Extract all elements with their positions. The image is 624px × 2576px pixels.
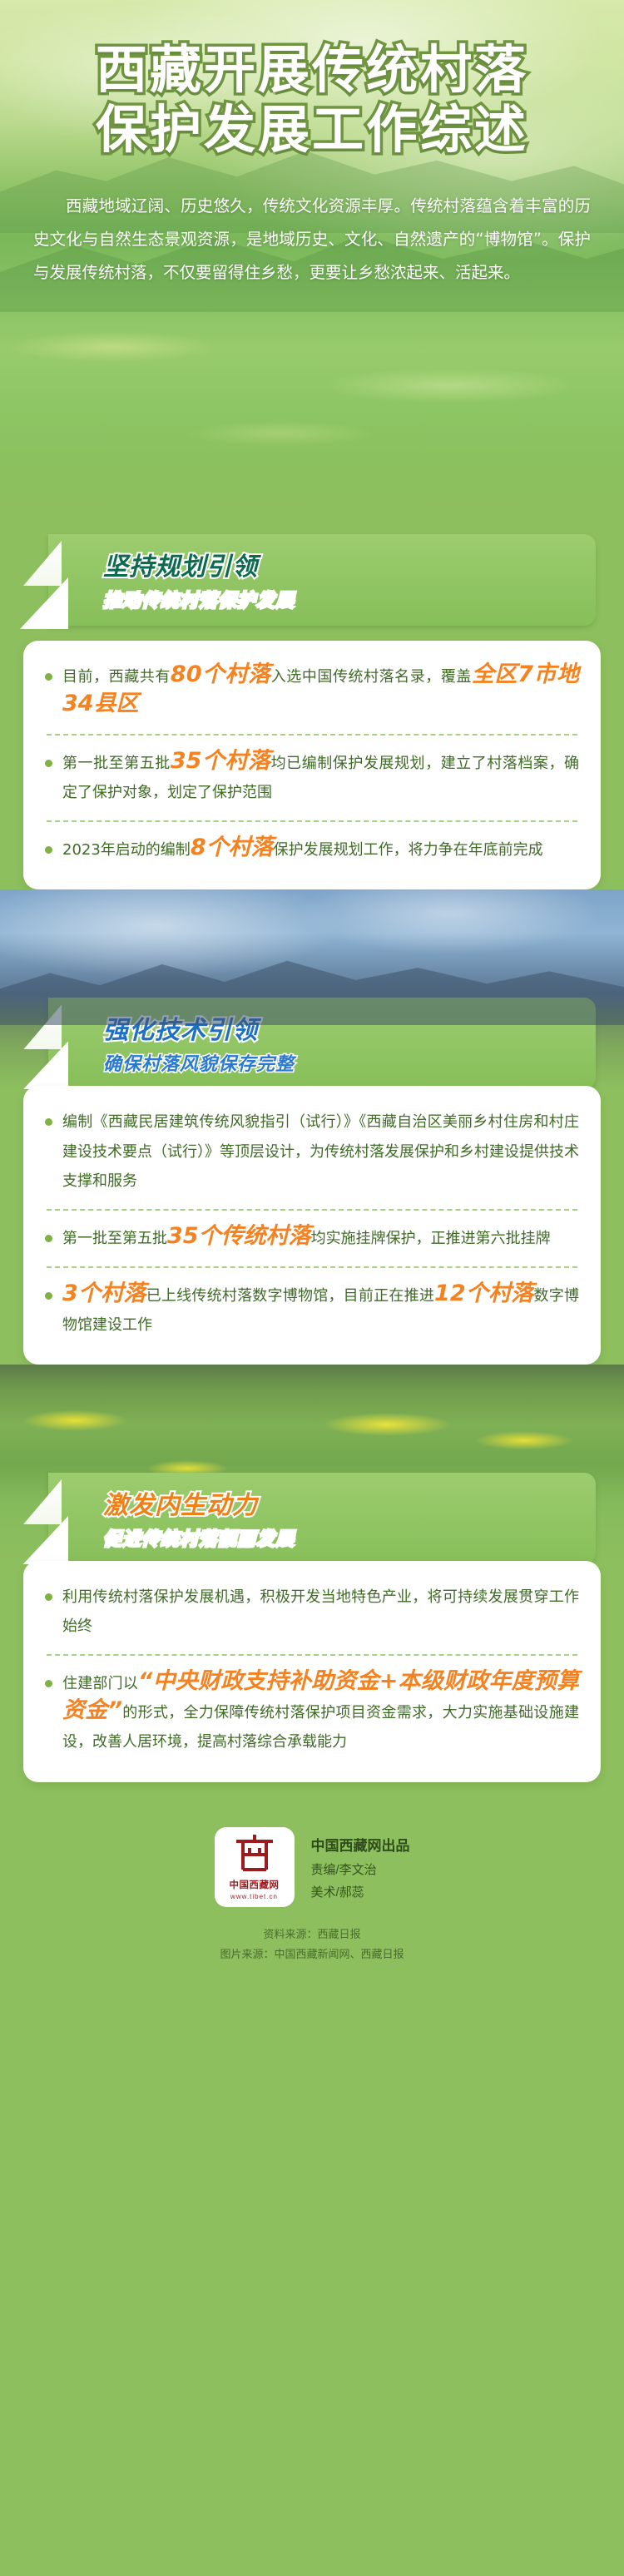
body-text-run: 的形式，全力保障传统村落保护项目资金需求，大力实施基础设施建设，改善人居环境，提… [62,1704,579,1751]
bullet-text: 住建部门以“中央财政支持补助资金+本级财政年度预算资金”的形式，全力保障传统村落… [62,1669,579,1756]
bullet-item: 利用传统村落保护发展机遇，积极开发当地特色产业，将可持续发展贯穿工作始终 [45,1583,579,1641]
ribbon-tail-icon [23,541,62,586]
bullet-item: 2023年启动的编制8个村落保护发展规划工作，将力争在年底前完成 [45,835,579,864]
bullet-item: 第一批至第五批35个村落均已编制保护发展规划，建立了村落档案，确定了保护对象，划… [45,749,579,807]
logo-name: 中国西藏网 [230,1878,280,1891]
highlighted-figure: 35个传统村落 [167,1223,311,1249]
highlighted-figure: 12个村落 [434,1281,534,1306]
body-text-run: 保护发展规划工作，将力争在年底前完成 [274,841,543,859]
section-3-subheading: 促进传统村落靓丽发展 [103,1524,576,1551]
section-2-subheading: 确保村落风貌保存完整 [103,1049,576,1076]
divider [47,820,577,822]
highlighted-figure: 8个村落 [191,835,274,860]
ribbon-tail-icon [23,1479,62,1524]
hero-gradient-fade [0,416,624,516]
section-2-card: 编制《西藏民居建筑传统风貌指引（试行）》《西藏自治区美丽乡村住房和村庄建设技术要… [23,1086,601,1365]
section-banner-1: 坚持规划引领 推动传统村落保护发展 [0,534,624,626]
highlighted-figure: 3个村落 [62,1281,146,1306]
bullet-dot-icon [45,1235,52,1242]
section-3-heading: 激发内生动力 [103,1484,576,1521]
section-2-photo: 强化技术引领 确保村落风貌保存完整 [0,889,624,1089]
bullet-text: 3个村落已上线传统村落数字博物馆，目前正在推进12个村落数字博物馆建设工作 [62,1281,579,1340]
body-text-run: 利用传统村落保护发展机遇，积极开发当地特色产业，将可持续发展贯穿工作始终 [62,1588,579,1635]
bullet-text: 第一批至第五批35个村落均已编制保护发展规划，建立了村落档案，确定了保护对象，划… [62,749,579,807]
footer-sources: 资料来源：西藏日报 图片来源：中国西藏新闻网、西藏日报 [0,1925,624,1966]
bullet-text: 2023年启动的编制8个村落保护发展规划工作，将力争在年底前完成 [62,835,579,864]
body-text-run: 编制《西藏民居建筑传统风貌指引（试行）》《西藏自治区美丽乡村住房和村庄建设技术要… [62,1113,579,1189]
bullet-dot-icon [45,846,52,854]
divider [47,1266,577,1268]
section-3-card: 利用传统村落保护发展机遇，积极开发当地特色产业，将可持续发展贯穿工作始终 住建部… [23,1561,601,1781]
bullet-item: 编制《西藏民居建筑传统风貌指引（试行）》《西藏自治区美丽乡村住房和村庄建设技术要… [45,1107,579,1195]
body-text-run: 目前，西藏共有 [62,668,171,686]
editor-label: 责编/李文治 [311,1860,410,1878]
infographic-poster: 西藏开展传统村落 保护发展工作综述 西藏地域辽阔、历史悠久，传统文化资源丰厚。传… [0,0,624,2576]
bullet-dot-icon [45,1593,52,1601]
bullet-text: 利用传统村落保护发展机遇，积极开发当地特色产业，将可持续发展贯穿工作始终 [62,1583,579,1641]
source-text-label: 资料来源：西藏日报 [0,1925,624,1946]
section-1-card: 目前，西藏共有80个村落入选中国传统村落名录，覆盖全区7市地34县区 第一批至第… [23,641,601,889]
hero-section: 西藏开展传统村落 保护发展工作综述 西藏地域辽阔、历史悠久，传统文化资源丰厚。传… [0,0,624,516]
bullet-item: 目前，西藏共有80个村落入选中国传统村落名录，覆盖全区7市地34县区 [45,662,579,721]
banner-3: 激发内生动力 促进传统村落靓丽发展 [48,1473,596,1564]
art-label: 美术/郝蕊 [311,1883,410,1900]
bullet-text: 第一批至第五批35个传统村落均实施挂牌保护，正推进第六批挂牌 [62,1224,579,1253]
footer-top: 中国西藏网 www.tibet.cn 中国西藏网出品 责编/李文治 美术/郝蕊 [0,1827,624,1907]
divider [47,734,577,736]
tibet-net-logo: 中国西藏网 www.tibet.cn [215,1827,295,1907]
logo-seal-icon [231,1833,278,1876]
highlighted-figure: 35个村落 [171,748,271,774]
divider [47,1654,577,1656]
footer-credits: 中国西藏网出品 责编/李文治 美术/郝蕊 [311,1834,410,1900]
body-text-run: 已上线传统村落数字博物馆，目前正在推进 [146,1287,434,1305]
ribbon-tail-icon [23,1004,62,1049]
body-text-run: 第一批至第五批 [62,755,171,772]
source-image-label: 图片来源：中国西藏新闻网、西藏日报 [0,1945,624,1966]
bullet-dot-icon [45,760,52,767]
section-2-heading: 强化技术引领 [103,1009,576,1046]
bullet-dot-icon [45,1680,52,1687]
body-text-run: 2023年启动的编制 [62,841,191,859]
bullet-text: 目前，西藏共有80个村落入选中国传统村落名录，覆盖全区7市地34县区 [62,662,579,721]
page-title: 西藏开展传统村落 保护发展工作综述 [0,0,624,160]
section-banner-3: 激发内生动力 促进传统村落靓丽发展 [0,1473,624,1564]
banner-1: 坚持规划引领 推动传统村落保护发展 [48,534,596,626]
title-line-1: 西藏开展传统村落 [0,40,624,100]
bullet-text: 编制《西藏民居建筑传统风貌指引（试行）》《西藏自治区美丽乡村住房和村庄建设技术要… [62,1107,579,1195]
bullet-item: 3个村落已上线传统村落数字博物馆，目前正在推进12个村落数字博物馆建设工作 [45,1281,579,1340]
banner-2: 强化技术引领 确保村落风貌保存完整 [48,998,596,1089]
footer: 中国西藏网 www.tibet.cn 中国西藏网出品 责编/李文治 美术/郝蕊 … [0,1811,624,1988]
highlighted-figure: 80个村落 [171,661,271,687]
logo-url: www.tibet.cn [230,1893,278,1900]
bullet-dot-icon [45,1292,52,1300]
section-3-photo: 激发内生动力 促进传统村落靓丽发展 [0,1365,624,1564]
body-text-run: 住建部门以 [62,1675,138,1692]
bullet-item: 住建部门以“中央财政支持补助资金+本级财政年度预算资金”的形式，全力保障传统村落… [45,1669,579,1756]
bullet-item: 第一批至第五批35个传统村落均实施挂牌保护，正推进第六批挂牌 [45,1224,579,1253]
title-line-2: 保护发展工作综述 [0,100,624,160]
section-1-subheading: 推动传统村落保护发展 [103,586,576,612]
section-1-heading: 坚持规划引领 [103,546,576,582]
bullet-dot-icon [45,1118,52,1126]
intro-paragraph: 西藏地域辽阔、历史悠久，传统文化资源丰厚。传统村落蕴含着丰富的历史文化与自然生态… [33,190,591,290]
bullet-dot-icon [45,673,52,681]
divider [47,1209,577,1211]
body-text-run: 均实施挂牌保护，正推进第六批挂牌 [311,1230,551,1247]
body-text-run: 第一批至第五批 [62,1230,167,1247]
section-banner-2: 强化技术引领 确保村落风貌保存完整 [0,998,624,1089]
producer-label: 中国西藏网出品 [311,1834,410,1855]
body-text-run: 入选中国传统村落名录，覆盖 [271,668,472,686]
